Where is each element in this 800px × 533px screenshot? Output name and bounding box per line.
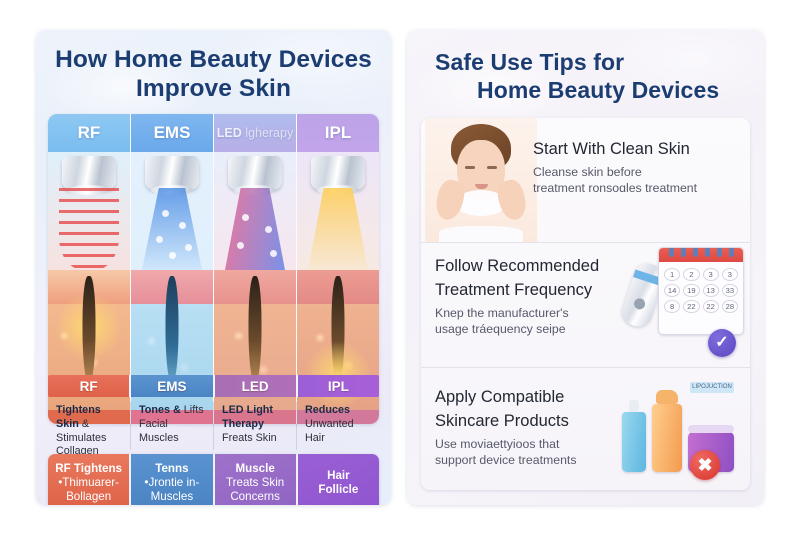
ipl-beam-illustration [297, 152, 379, 270]
calendar-date-cell: 13 [703, 284, 719, 297]
tip-2-text: Follow Recommended Treatment Frequency K… [435, 257, 635, 338]
rf-device-wand-icon [62, 156, 116, 190]
calendar-date-cell: 19 [683, 284, 699, 297]
tip-item-clean-skin: Start With Clean Skin Cleanse skin befor… [421, 118, 750, 243]
check-glyph: ✓ [715, 335, 728, 351]
summary-ems-line2: •Jrontie in- [144, 476, 199, 490]
calendar-date-cell: 22 [703, 300, 719, 313]
summary-rf: RF Tightens •Thimuarer- Bollagen [48, 454, 131, 505]
hand-right [495, 177, 530, 222]
safe-use-tips-list: Start With Clean Skin Cleanse skin befor… [421, 118, 750, 490]
ipl-light-rays [308, 188, 368, 270]
tip-3-heading-line2: Skincare Products [435, 412, 631, 432]
modality-summary-row: RF Tightens •Thimuarer- Bollagen Tenns •… [48, 454, 379, 505]
eye-right [487, 166, 497, 169]
left-panel-card: How Home Beauty Devices Improve Skin RF [36, 30, 391, 505]
skincare-products-illustration: LIPOJUCTION ✖ [618, 374, 746, 484]
description-ipl-rest: Unwanted Hair [305, 418, 354, 444]
summary-rf-line1: RF Tightens [55, 462, 122, 476]
calendar-date-cell: 28 [722, 300, 738, 313]
left-title-line-2: Improve Skin [136, 75, 291, 102]
hand-left [433, 177, 468, 222]
tip-3-body-line1: Use moviaettyioos that [435, 436, 631, 452]
infographic-canvas: How Home Beauty Devices Improve Skin RF [0, 0, 800, 533]
tip-item-treatment-frequency: Follow Recommended Treatment Frequency K… [421, 243, 750, 368]
hair-follicle [83, 276, 96, 384]
summary-ipl-line2: Follicle [318, 483, 358, 497]
left-panel-title: How Home Beauty Devices Improve Skin [50, 46, 377, 104]
tip-1-body-line1: Cleanse skin before [533, 164, 743, 180]
led-particles [214, 188, 296, 270]
right-title-line-1: Safe Use Tips for [435, 49, 624, 75]
calendar-date-cell: 33 [722, 284, 738, 297]
ems-device-wand-icon [145, 156, 199, 190]
column-header-led: LED lgherapy [214, 114, 296, 152]
led-device-wand-icon [228, 156, 282, 190]
summary-led-line2: Treats Skin [226, 476, 284, 490]
calendar-date-cell: 8 [664, 300, 680, 313]
hair-follicle [166, 276, 179, 384]
description-led: LED Light Therapy Freats Skin [214, 402, 297, 450]
calendar-date-cell: 1 [664, 268, 680, 281]
tip-3-text: Apply Compatible Skincare Products Use m… [435, 388, 631, 469]
rf-skin-cross-section [48, 270, 130, 424]
description-led-strong: LED Light Therapy [222, 404, 273, 430]
ipl-skin-cross-section [297, 270, 379, 424]
description-ems: Tones & Lifts Facial Muscles [131, 402, 214, 450]
tip-item-compatible-products: Apply Compatible Skincare Products Use m… [421, 368, 750, 490]
eye-left [465, 166, 475, 169]
tip-2-body-line1: Knep the manufacturer's [435, 305, 635, 321]
led-beam-illustration [214, 152, 296, 270]
summary-rf-line3: Bollagen [66, 490, 111, 504]
description-ipl: Reduces Unwanted Hair [297, 402, 379, 450]
hair-follicle [249, 276, 262, 384]
column-header-rf: RF [48, 114, 130, 152]
description-ems-strong: Tones & [139, 404, 181, 416]
tip-1-text: Start With Clean Skin Cleanse skin befor… [533, 140, 743, 197]
modality-label-row: RF EMS LED IPL [48, 375, 379, 397]
tip-2-body-line2: usage tráequency seipe [435, 321, 635, 337]
tip-2-heading-line2: Treatment Frequency [435, 281, 635, 301]
column-header-ipl: IPL [297, 114, 379, 152]
calendar-date-cell: 22 [683, 300, 699, 313]
summary-rf-line2: •Thimuarer- [58, 476, 119, 490]
ems-beam-illustration [131, 152, 213, 270]
calendar-date-cell: 3 [722, 268, 738, 281]
description-ipl-strong: Reduces [305, 404, 350, 416]
description-rf: Tightens Skin & Stimulates Collagen [48, 402, 131, 450]
summary-led: Muscle Treats Skin Concerns [215, 454, 298, 505]
woman-washing-face-illustration [425, 118, 537, 242]
calendar-date-cell: 2 [683, 268, 699, 281]
summary-ems-line1: Tenns [155, 462, 188, 476]
cross-icon: ✖ [690, 450, 720, 480]
calendar-date-cell: 14 [664, 284, 680, 297]
description-rf-strong: Tightens Skin [56, 404, 101, 430]
product-bottle-orange [652, 404, 682, 472]
tip-2-heading-line1: Follow Recommended [435, 257, 635, 277]
description-led-rest: Freats Skin [222, 432, 277, 444]
summary-ipl-line1: Hair [327, 469, 350, 483]
product-label-tag: LIPOJUCTION [690, 382, 734, 393]
column-header-ems: EMS [131, 114, 213, 152]
tip-3-body-line2: support device treatments [435, 452, 631, 468]
summary-led-line3: Concerns [230, 490, 280, 504]
right-title-line-2: Home Beauty Devices [435, 76, 748, 104]
tip-3-heading-line1: Apply Compatible [435, 388, 631, 408]
right-panel-card: Safe Use Tips for Home Beauty Devices [407, 30, 764, 505]
calendar-date-grid: 1233141913338222228 [659, 262, 743, 319]
label-rf: RF [48, 375, 131, 397]
left-title-line-1: How Home Beauty Devices [55, 46, 372, 73]
collar [439, 226, 523, 242]
summary-led-line1: Muscle [235, 462, 274, 476]
led-skin-cross-section [214, 270, 296, 424]
rf-wave-rays [59, 188, 119, 270]
cross-glyph: ✖ [697, 456, 712, 474]
calendar-rings [659, 247, 743, 257]
ems-skin-cross-section [131, 270, 213, 424]
summary-ipl: Hair Follicle [298, 454, 379, 505]
modality-description-row: Tightens Skin & Stimulates Collagen Tone… [48, 402, 379, 450]
column-header-led-main: LED [217, 126, 242, 140]
label-led: LED [215, 375, 298, 397]
right-panel-title: Safe Use Tips for Home Beauty Devices [423, 48, 748, 104]
summary-ems: Tenns •Jrontie in- Muscles [131, 454, 214, 505]
calendar-illustration: 1233141913338222228 [658, 247, 744, 335]
label-ipl: IPL [298, 375, 379, 397]
tip-1-heading: Start With Clean Skin [533, 140, 743, 160]
rf-beam-illustration [48, 152, 130, 270]
tip-1-body-line2: treatment ronsoɑles treatment [533, 180, 743, 196]
label-ems: EMS [131, 375, 214, 397]
ems-particles [131, 188, 213, 270]
ipl-device-wand-icon [311, 156, 365, 190]
check-icon: ✓ [708, 329, 736, 357]
summary-ems-line3: Muscles [151, 490, 194, 504]
column-header-led-sub: lgherapy [245, 126, 293, 140]
calendar-date-cell: 3 [703, 268, 719, 281]
